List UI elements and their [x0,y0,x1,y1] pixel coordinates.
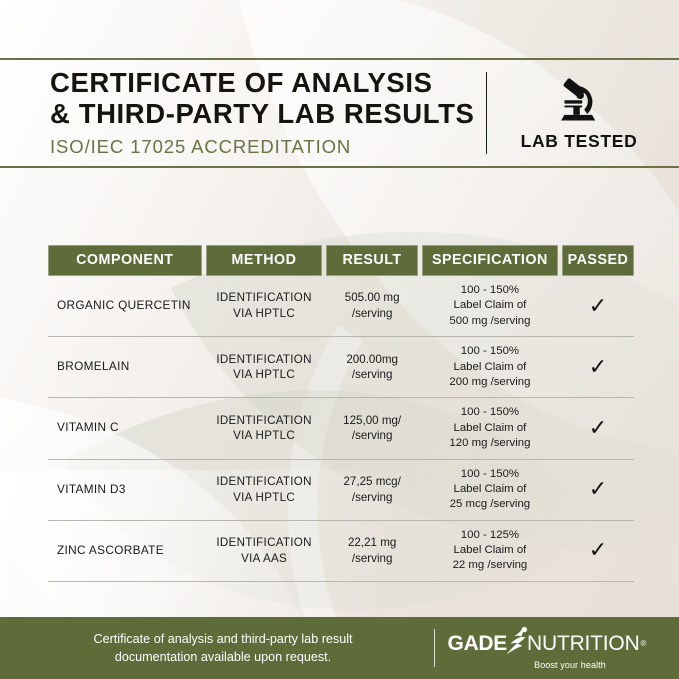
cell-result-line-1: 505.00 mg [329,290,414,306]
check-icon: ✓ [589,417,607,439]
page-title-line-2: & THIRD-PARTY LAB RESULTS [50,99,478,130]
cell-method-line-1: IDENTIFICATION [209,474,320,490]
cell-component: ZINC ASCORBATE [48,536,202,566]
cell-spec-line-1: 100 - 125% [425,528,555,543]
cell-method-line-2: VIA HPTLC [209,367,320,383]
cell-component: VITAMIN D3 [48,475,202,505]
cell-method: IDENTIFICATION VIA HPTLC [206,283,323,328]
page-title-line-1: CERTIFICATE OF ANALYSIS [50,68,478,99]
cell-method-line-1: IDENTIFICATION [209,290,320,306]
cell-result-line-1: 27,25 mcg/ [329,474,414,490]
lab-tested-label: LAB TESTED [521,131,638,152]
cell-spec-line-1: 100 - 150% [425,467,555,482]
table-row: BROMELAIN IDENTIFICATION VIA HPTLC 200.0… [48,337,634,398]
cell-method-line-2: VIA AAS [209,551,320,567]
cell-method: IDENTIFICATION VIA HPTLC [206,345,323,390]
cell-spec-line-3: 200 mg /serving [425,375,555,390]
footer-note-line-2: documentation available upon request. [30,648,416,666]
cell-specification: 100 - 150% Label Claim of 200 mg /servin… [422,337,558,397]
cell-spec-line-3: 22 mg /serving [425,558,555,573]
column-header-passed: PASSED [562,245,634,276]
column-header-component: COMPONENT [48,245,202,276]
lab-tested-badge: LAB TESTED [513,75,645,152]
cell-passed: ✓ [562,410,634,447]
results-table: COMPONENT METHOD RESULT SPECIFICATION PA… [48,245,634,582]
cell-method-line-2: VIA HPTLC [209,306,320,322]
cell-result-line-2: /serving [329,428,414,444]
table-row: VITAMIN C IDENTIFICATION VIA HPTLC 125,0… [48,398,634,459]
cell-result-line-1: 125,00 mg/ [329,413,414,429]
cell-result-line-2: /serving [329,367,414,383]
cell-spec-line-3: 120 mg /serving [425,436,555,451]
cell-specification: 100 - 125% Label Claim of 22 mg /serving [422,521,558,581]
cell-passed: ✓ [562,288,634,325]
check-icon: ✓ [589,295,607,317]
check-icon: ✓ [589,478,607,500]
check-icon: ✓ [589,539,607,561]
header-divider [486,72,487,154]
cell-result: 200.00mg /serving [326,345,417,390]
cell-spec-line-3: 25 mcg /serving [425,497,555,512]
cell-passed: ✓ [562,532,634,569]
cell-result: 505.00 mg /serving [326,283,417,328]
brand-logo: GADE NUTRITION ® Boost your health [435,626,653,670]
check-icon: ✓ [589,356,607,378]
cell-result-line-2: /serving [329,551,414,567]
brand-name-primary: GADE [448,632,507,656]
cell-method: IDENTIFICATION VIA HPTLC [206,467,323,512]
column-header-method: METHOD [206,245,323,276]
cell-spec-line-2: Label Claim of [425,543,555,558]
cell-method-line-2: VIA HPTLC [209,428,320,444]
column-header-specification: SPECIFICATION [422,245,558,276]
cell-passed: ✓ [562,471,634,508]
cell-result-line-2: /serving [329,306,414,322]
cell-result: 22,21 mg /serving [326,528,417,573]
cell-component: VITAMIN C [48,413,202,443]
footer-note-line-1: Certificate of analysis and third-party … [30,630,416,648]
cell-component: ORGANIC QUERCETIN [48,291,202,321]
cell-specification: 100 - 150% Label Claim of 500 mg /servin… [422,276,558,336]
cell-result-line-1: 200.00mg [329,352,414,368]
table-row: ZINC ASCORBATE IDENTIFICATION VIA AAS 22… [48,521,634,582]
coa-page: CERTIFICATE OF ANALYSIS & THIRD-PARTY LA… [0,0,679,679]
cell-passed: ✓ [562,349,634,386]
cell-spec-line-1: 100 - 150% [425,405,555,420]
cell-method-line-1: IDENTIFICATION [209,413,320,429]
footer-note: Certificate of analysis and third-party … [30,630,434,667]
brand-logo-row: GADE NUTRITION ® [448,626,647,661]
cell-method: IDENTIFICATION VIA AAS [206,528,323,573]
cell-method-line-1: IDENTIFICATION [209,535,320,551]
cell-result-line-2: /serving [329,490,414,506]
brand-tagline: Boost your health [534,660,606,670]
cell-spec-line-1: 100 - 150% [425,283,555,298]
cell-result: 27,25 mcg/ /serving [326,467,417,512]
header-title-block: CERTIFICATE OF ANALYSIS & THIRD-PARTY LA… [50,68,478,158]
table-header-row: COMPONENT METHOD RESULT SPECIFICATION PA… [48,245,634,276]
cell-spec-line-2: Label Claim of [425,482,555,497]
brand-name-secondary: NUTRITION [527,632,640,656]
registered-trademark-icon: ® [641,639,647,648]
cell-spec-line-1: 100 - 150% [425,344,555,359]
cell-spec-line-2: Label Claim of [425,421,555,436]
cell-specification: 100 - 150% Label Claim of 25 mcg /servin… [422,460,558,520]
cell-spec-line-2: Label Claim of [425,298,555,313]
cell-spec-line-3: 500 mg /serving [425,314,555,329]
cell-method-line-1: IDENTIFICATION [209,352,320,368]
cell-specification: 100 - 150% Label Claim of 120 mg /servin… [422,398,558,458]
column-header-result: RESULT [326,245,417,276]
microscope-icon [553,75,605,127]
cell-method: IDENTIFICATION VIA HPTLC [206,406,323,451]
table-row: VITAMIN D3 IDENTIFICATION VIA HPTLC 27,2… [48,460,634,521]
table-body: ORGANIC QUERCETIN IDENTIFICATION VIA HPT… [48,276,634,582]
table-row: ORGANIC QUERCETIN IDENTIFICATION VIA HPT… [48,276,634,337]
cell-component: BROMELAIN [48,352,202,382]
header: CERTIFICATE OF ANALYSIS & THIRD-PARTY LA… [0,58,679,168]
cell-result: 125,00 mg/ /serving [326,406,417,451]
cell-spec-line-2: Label Claim of [425,360,555,375]
page-subtitle: ISO/IEC 17025 ACCREDITATION [50,136,478,158]
cell-result-line-1: 22,21 mg [329,535,414,551]
swoosh-icon [503,626,529,661]
footer: Certificate of analysis and third-party … [0,617,679,679]
cell-method-line-2: VIA HPTLC [209,490,320,506]
